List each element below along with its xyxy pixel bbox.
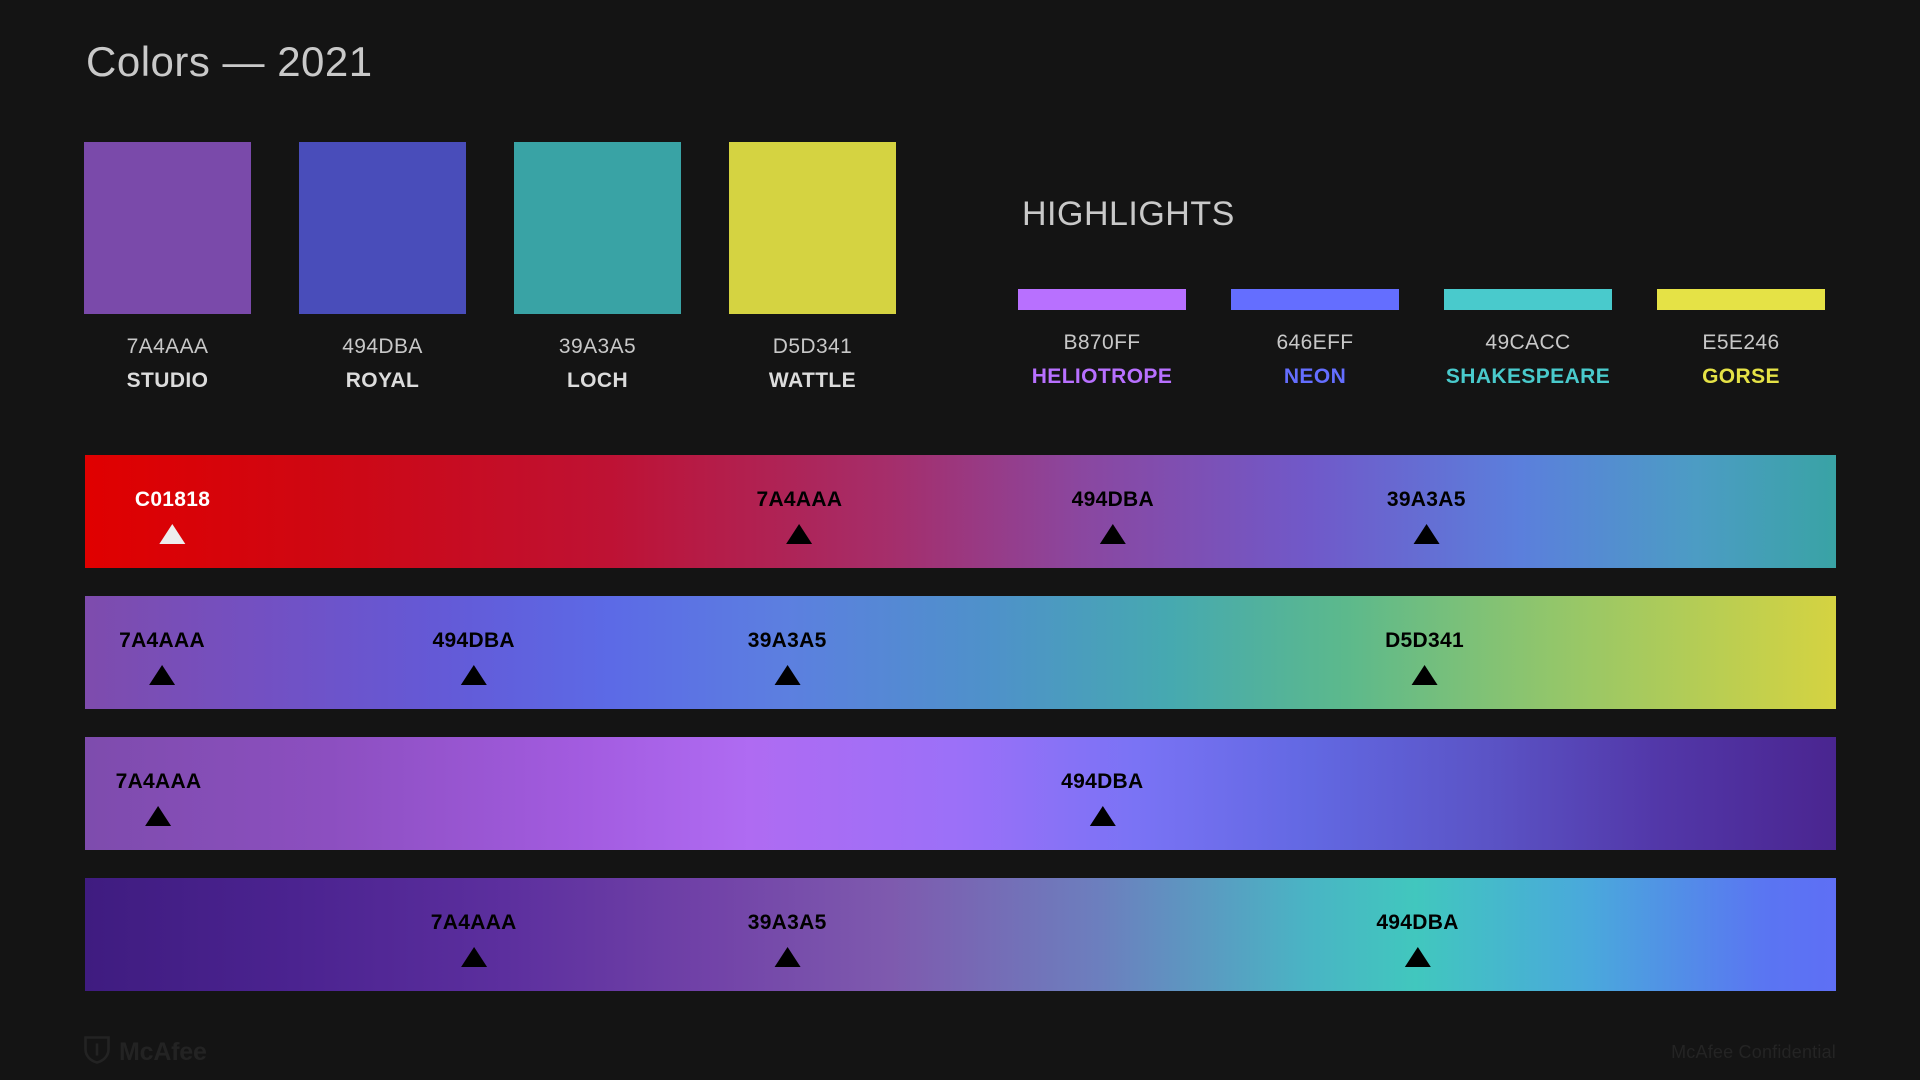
swatch-name-label: ROYAL [346,369,420,393]
gradient-fill [85,737,1836,850]
highlight-swatch: 49CACCSHAKESPEARE [1444,289,1612,389]
highlights-section: HIGHLIGHTS [1020,195,1235,234]
color-swatch: D5D341WATTLE [729,142,896,393]
swatch-hex-label: D5D341 [773,335,852,359]
swatch-name-label: WATTLE [769,369,856,393]
color-swatch: 494DBAROYAL [299,142,466,393]
highlight-hex-label: 49CACC [1485,331,1570,355]
mcafee-logo: McAfee [84,1036,207,1069]
highlight-color-chip [1657,289,1825,310]
highlight-name-label: NEON [1284,365,1346,389]
primary-swatch-group: 7A4AAASTUDIO494DBAROYAL39A3A5LOCHD5D341W… [84,142,896,393]
gradient-bar: 7A4AAA494DBA [85,737,1836,850]
gradient-bar-group: C018187A4AAA494DBA39A3A57A4AAA494DBA39A3… [85,455,1836,1019]
page-title: Colors — 2021 [86,38,373,86]
gradient-bar: 7A4AAA39A3A5494DBA [85,878,1836,991]
swatch-hex-label: 7A4AAA [127,335,209,359]
gradient-fill [85,455,1836,568]
highlights-heading: HIGHLIGHTS [1022,195,1235,234]
color-swatch: 39A3A5LOCH [514,142,681,393]
highlight-swatch: B870FFHELIOTROPE [1018,289,1186,389]
highlight-color-chip [1231,289,1399,310]
highlight-name-label: GORSE [1702,365,1780,389]
swatch-hex-label: 494DBA [342,335,423,359]
highlight-color-chip [1018,289,1186,310]
swatch-name-label: STUDIO [127,369,209,393]
highlight-swatch: E5E246GORSE [1657,289,1825,389]
highlight-name-label: HELIOTROPE [1032,365,1173,389]
swatch-color-chip [299,142,466,314]
gradient-fill [85,878,1836,991]
confidential-notice: McAfee Confidential [1671,1042,1836,1063]
swatch-name-label: LOCH [567,369,628,393]
shield-icon [84,1036,110,1069]
gradient-fill [85,596,1836,709]
highlight-color-chip [1444,289,1612,310]
highlight-hex-label: E5E246 [1702,331,1779,355]
highlight-swatch: 646EFFNEON [1231,289,1399,389]
swatch-color-chip [729,142,896,314]
gradient-bar: C018187A4AAA494DBA39A3A5 [85,455,1836,568]
swatch-hex-label: 39A3A5 [559,335,636,359]
highlight-hex-label: 646EFF [1276,331,1353,355]
highlight-name-label: SHAKESPEARE [1446,365,1610,389]
mcafee-logo-text: McAfee [119,1038,207,1067]
swatch-color-chip [84,142,251,314]
swatch-color-chip [514,142,681,314]
highlight-swatch-group: B870FFHELIOTROPE646EFFNEON49CACCSHAKESPE… [1018,289,1825,389]
highlight-hex-label: B870FF [1063,331,1140,355]
color-swatch: 7A4AAASTUDIO [84,142,251,393]
gradient-bar: 7A4AAA494DBA39A3A5D5D341 [85,596,1836,709]
